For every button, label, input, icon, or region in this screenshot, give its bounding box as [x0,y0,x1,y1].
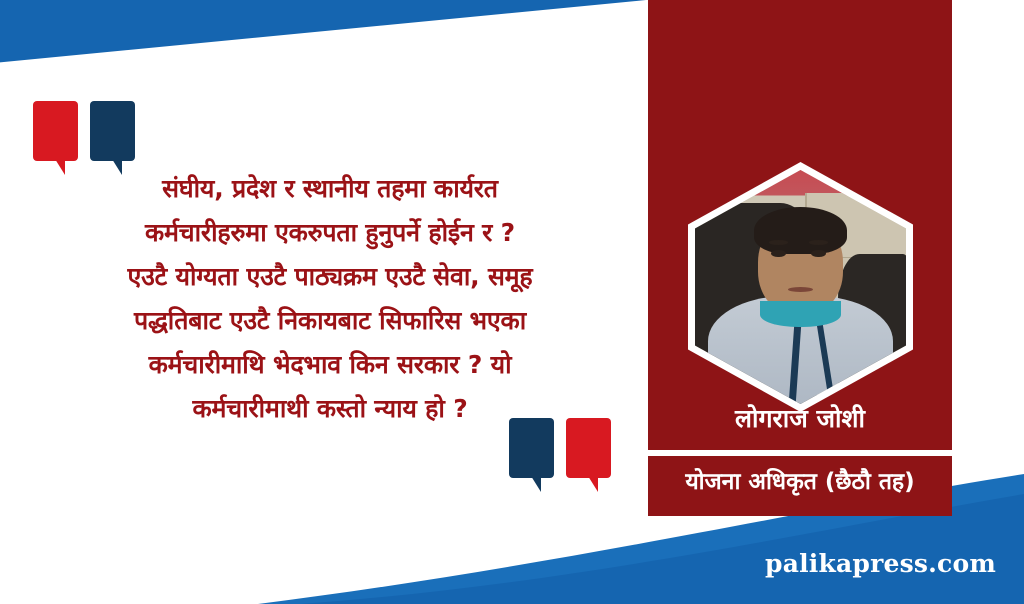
photo-hair [754,207,847,254]
quote-line-1: संघीय, प्रदेश र स्थानीय तहमा कार्यरत [36,167,624,211]
quote-line-2: कर्मचारीहरुमा एकरुपता हुनुपर्ने होईन र ? [36,211,624,255]
photo-eyebrow-left [769,240,788,245]
quote-line-5: कर्मचारीमाथि भेदभाव किन सरकार ? यो [36,343,624,387]
quote-line-3: एउटै योग्यता एउटै पाठ्यक्रम एउटै सेवा, स… [36,255,624,299]
close-quote-navy-icon [509,418,554,478]
photo-eye-right [811,250,826,257]
poster-canvas: संघीय, प्रदेश र स्थानीय तहमा कार्यरत कर्… [0,0,1024,604]
opening-quote-marks [33,101,135,161]
open-quote-red-icon [33,101,78,161]
quote-line-4: पद्धतिबाट एउटै निकायबाट सिफारिस भएका [36,299,624,343]
person-name: लोगराज जोशी [648,402,952,436]
close-quote-red-icon [566,418,611,478]
top-left-blue-wedge [0,0,646,80]
person-role: योजना अधिकृत (छैठौ तह) [648,466,952,498]
photo-eye-left [771,250,786,257]
closing-quote-marks [509,418,611,478]
portrait-photo [695,170,906,404]
photo-eyebrow-right [809,240,828,245]
quote-text-block: संघीय, प्रदेश र स्थानीय तहमा कार्यरत कर्… [36,167,624,431]
photo-face-mask [760,301,840,327]
profile-panel: लोगराज जोशी योजना अधिकृत (छैठौ तह) [648,0,952,516]
site-url-label: palikapress.com [765,549,996,578]
open-quote-navy-icon [90,101,135,161]
